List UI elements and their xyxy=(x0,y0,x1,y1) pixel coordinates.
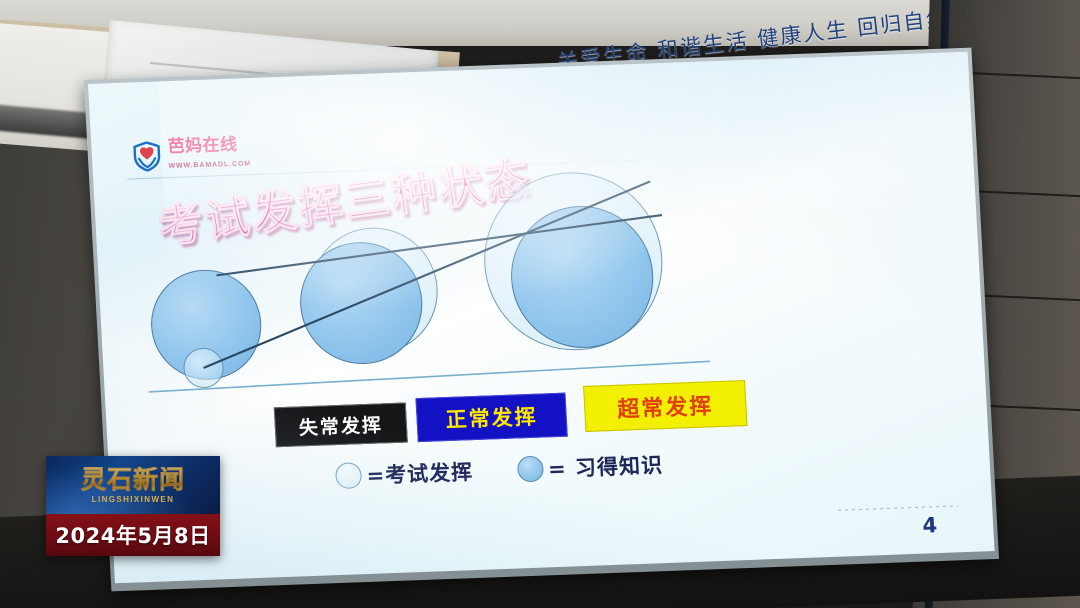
video-frame: 关爱生命 和谐生活 健康人生 回归自然 芭妈在线 xyxy=(0,0,1080,608)
news-channel-logo: 灵石新闻 LINGSHIXINWEN xyxy=(46,456,220,514)
slide-page-number: 4 xyxy=(922,513,938,538)
slide-canvas: 芭妈在线 WWW.BAMADL.COM 考试发挥三种状态 xyxy=(88,52,995,584)
label-underperform: 失常发挥 xyxy=(274,403,408,448)
label-normal-text: 正常发挥 xyxy=(445,401,539,434)
label-underperform-text: 失常发挥 xyxy=(298,410,383,440)
projection-screen: 芭妈在线 WWW.BAMADL.COM 考试发挥三种状态 xyxy=(88,52,995,584)
legend-knowledge-text: = 习得知识 xyxy=(547,449,663,483)
connector-lines xyxy=(88,52,995,584)
news-channel-bug: 灵石新闻 LINGSHIXINWEN 2024年5月8日 xyxy=(46,456,220,556)
exam-circle-swatch-icon xyxy=(335,462,362,489)
circles-diagram xyxy=(88,52,995,584)
news-channel-name: 灵石新闻 xyxy=(81,467,185,492)
news-date-banner: 2024年5月8日 xyxy=(46,514,220,556)
legend-item-exam: =考试发挥 xyxy=(335,456,474,491)
connector-line-upper xyxy=(214,215,664,275)
knowledge-circle-swatch-icon xyxy=(516,456,543,483)
label-normal: 正常发挥 xyxy=(415,393,567,442)
legend-item-knowledge: = 习得知识 xyxy=(516,449,663,484)
connector-line-lower xyxy=(194,181,659,367)
news-channel-pinyin: LINGSHIXINWEN xyxy=(92,495,175,504)
label-overperform-text: 超常发挥 xyxy=(616,388,714,423)
legend-exam-text: =考试发挥 xyxy=(366,456,474,490)
label-overperform: 超常发挥 xyxy=(583,380,747,432)
